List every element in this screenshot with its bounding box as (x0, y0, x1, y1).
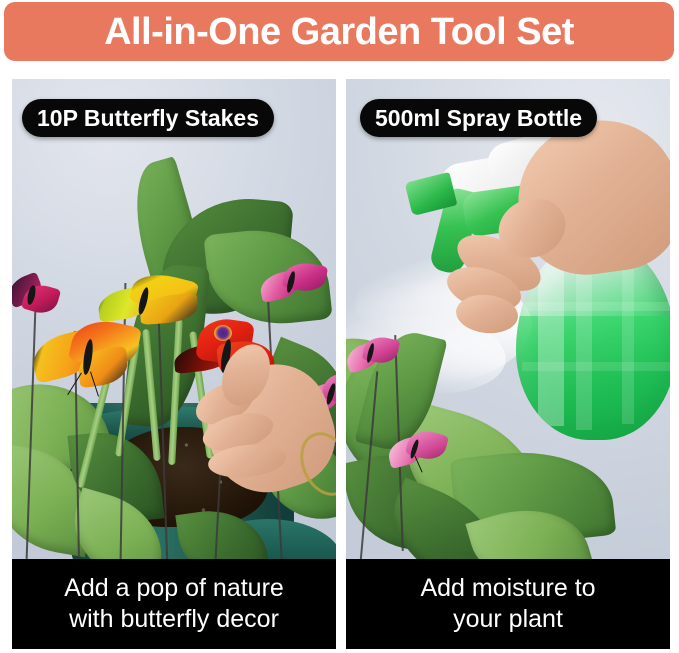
bottle-highlight (622, 262, 634, 424)
butterfly-stake-pink (346, 337, 398, 375)
panel-label-text: 10P Butterfly Stakes (37, 106, 259, 131)
caption-line-2: with butterfly decor (69, 604, 279, 635)
panel-label-spray-bottle: 500ml Spray Bottle (360, 99, 597, 137)
panel-caption-spray-bottle: Add moisture to your plant (346, 559, 670, 649)
bottle-highlight (538, 258, 564, 426)
product-panel-butterfly-stakes: 10P Butterfly Stakes Add a pop of nature… (12, 79, 336, 649)
bottle-highlight (576, 250, 592, 430)
photo-spray-bottle (346, 79, 670, 569)
caption-line-1: Add moisture to (420, 573, 595, 604)
panel-label-butterfly-stakes: 10P Butterfly Stakes (22, 99, 274, 137)
caption-line-1: Add a pop of nature (64, 573, 284, 604)
panel-caption-butterfly-stakes: Add a pop of nature with butterfly decor (12, 559, 336, 649)
bottle-highlight (522, 362, 670, 371)
butterfly-stake-pink (388, 431, 444, 471)
product-title-banner: All-in-One Garden Tool Set (4, 2, 674, 61)
butterfly-stake-pink (12, 275, 60, 317)
photo-butterfly-stakes (12, 79, 336, 569)
panel-label-text: 500ml Spray Bottle (375, 106, 582, 131)
butterfly-stake-magenta (260, 263, 326, 307)
bottle-highlight (524, 302, 670, 311)
product-panel-spray-bottle: 500ml Spray Bottle Add moisture to your … (346, 79, 670, 649)
page-title: All-in-One Garden Tool Set (104, 12, 574, 52)
caption-line-2: your plant (453, 604, 563, 635)
